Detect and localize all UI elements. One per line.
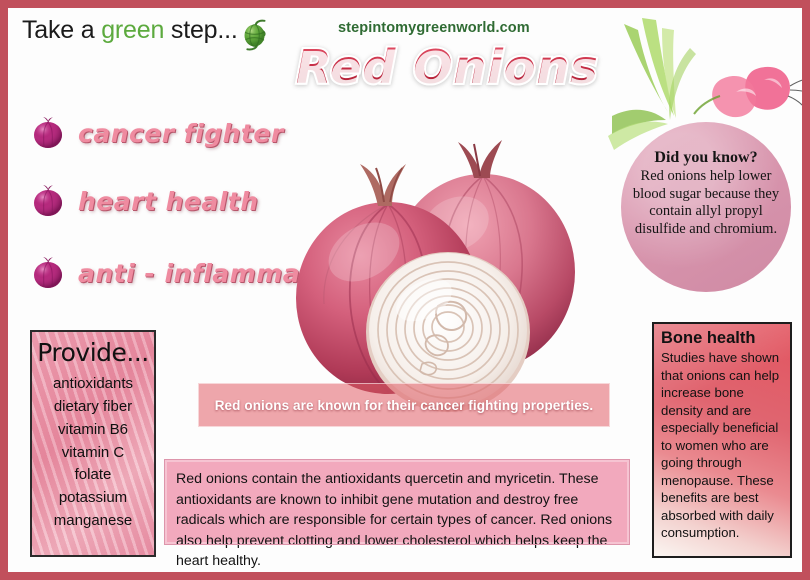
provide-item: dietary fiber	[32, 396, 154, 419]
photo-caption-text: Red onions are known for their cancer fi…	[215, 398, 594, 413]
provide-item: antioxidants	[32, 373, 154, 396]
benefit-item-cancer-fighter: cancer fighter	[30, 116, 284, 150]
main-description-box: Red onions contain the antioxidants quer…	[165, 460, 629, 544]
provide-item: folate	[32, 464, 154, 487]
provide-item: manganese	[32, 510, 154, 533]
bone-health-body: Studies have shown that onions can help …	[661, 349, 783, 542]
bone-health-box: Bone health Studies have shown that onio…	[652, 322, 792, 558]
did-you-know-title: Did you know?	[631, 148, 781, 168]
provide-nutrients-box: Provide... antioxidants dietary fiber vi…	[30, 330, 156, 557]
tagline-pre: Take a	[22, 16, 101, 44]
benefit-label: cancer fighter	[78, 119, 284, 148]
red-onion-bullet-icon	[30, 184, 66, 218]
did-you-know-callout: Did you know? Red onions help lower bloo…	[621, 122, 791, 292]
red-onion-bullet-icon	[30, 116, 66, 150]
site-url: stepintomygreenworld.com	[338, 20, 530, 36]
green-globe-footprint-icon	[236, 17, 274, 55]
infographic-poster: Take a green step... stepintomygreenworl…	[0, 0, 810, 580]
tagline-green-word: green	[101, 16, 164, 44]
red-onion-bullet-icon	[30, 256, 66, 290]
benefit-item-heart-health: heart health	[30, 184, 259, 218]
photo-caption-band: Red onions are known for their cancer fi…	[198, 383, 610, 427]
bone-health-title: Bone health	[661, 329, 783, 348]
did-you-know-body: Red onions help lower blood sugar becaus…	[631, 168, 781, 239]
benefit-label: heart health	[78, 187, 259, 216]
tagline: Take a green step...	[22, 16, 238, 45]
provide-item: potassium	[32, 487, 154, 510]
poster-canvas: Take a green step... stepintomygreenworl…	[8, 8, 802, 572]
provide-item: vitamin C	[32, 442, 154, 465]
main-description-text: Red onions contain the antioxidants quer…	[176, 469, 618, 572]
page-title: Red Onions	[296, 40, 596, 94]
provide-title: Provide...	[32, 340, 154, 366]
red-onions-photo	[278, 120, 608, 420]
provide-item: vitamin B6	[32, 419, 154, 442]
tagline-post: step...	[164, 16, 237, 44]
